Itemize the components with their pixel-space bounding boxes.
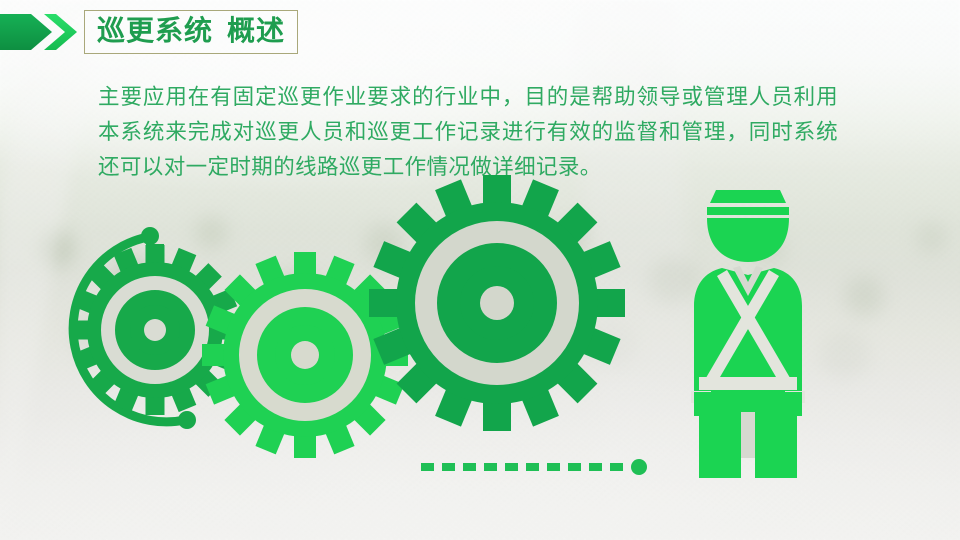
overview-paragraph: 主要应用在有固定巡更作业要求的行业中，目的是帮助领导或管理人员利用本系统来完成对…: [98, 80, 838, 185]
title-box: 巡更系统概述: [84, 10, 298, 54]
slide-header: 巡更系统概述: [0, 6, 298, 58]
slide-canvas: 巡更系统概述 主要应用在有固定巡更作业要求的行业中，目的是帮助领导或管理人员利用…: [0, 0, 960, 540]
title-sub: 概述: [227, 14, 285, 47]
title-main: 巡更系统: [97, 14, 213, 47]
page-title: 巡更系统概述: [97, 17, 285, 45]
double-chevron-arrow-icon: [0, 8, 78, 56]
